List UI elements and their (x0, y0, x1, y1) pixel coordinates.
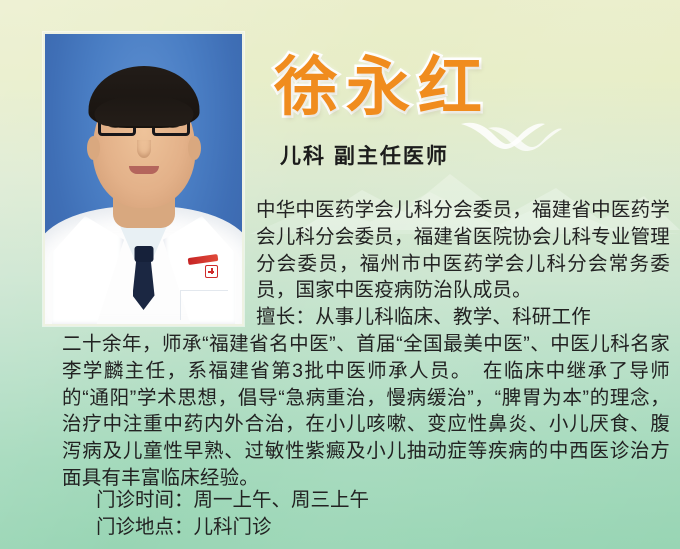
doctor-name: 徐永红 (274, 36, 490, 128)
hair (88, 66, 199, 128)
doctor-biography: 中华中医药学会儿科分会委员，福建省中医药学会儿科分会委员，福建省医院协会儿科专业… (62, 197, 670, 492)
bio-specialty-body: 二十余年，师承“福建省名中医”、首届“全国最美中医”、中医儿科名家李学麟主任，系… (62, 331, 670, 492)
clinic-location: 门诊地点：儿科门诊 (96, 514, 369, 541)
clinic-time: 门诊时间：周一上午、周三上午 (96, 487, 369, 514)
ear-right (188, 136, 201, 160)
ear-left (87, 136, 100, 160)
mouth (129, 166, 159, 174)
doctor-profile-card: 徐永红 儿科 副主任医师 中华中医药学会儿科分会委员，福建省中医药学会儿科分会委… (0, 0, 680, 549)
bio-specialty-head: 擅长：从事儿科临床、教学、科研工作 (256, 304, 670, 331)
bio-memberships: 中华中医药学会儿科分会委员，福建省中医药学会儿科分会委员，福建省医院协会儿科专业… (256, 197, 670, 304)
seagull-icon (487, 120, 563, 152)
doctor-title: 儿科 副主任医师 (280, 140, 449, 170)
clinic-schedule: 门诊时间：周一上午、周三上午 门诊地点：儿科门诊 (96, 487, 369, 541)
nose (137, 140, 151, 158)
